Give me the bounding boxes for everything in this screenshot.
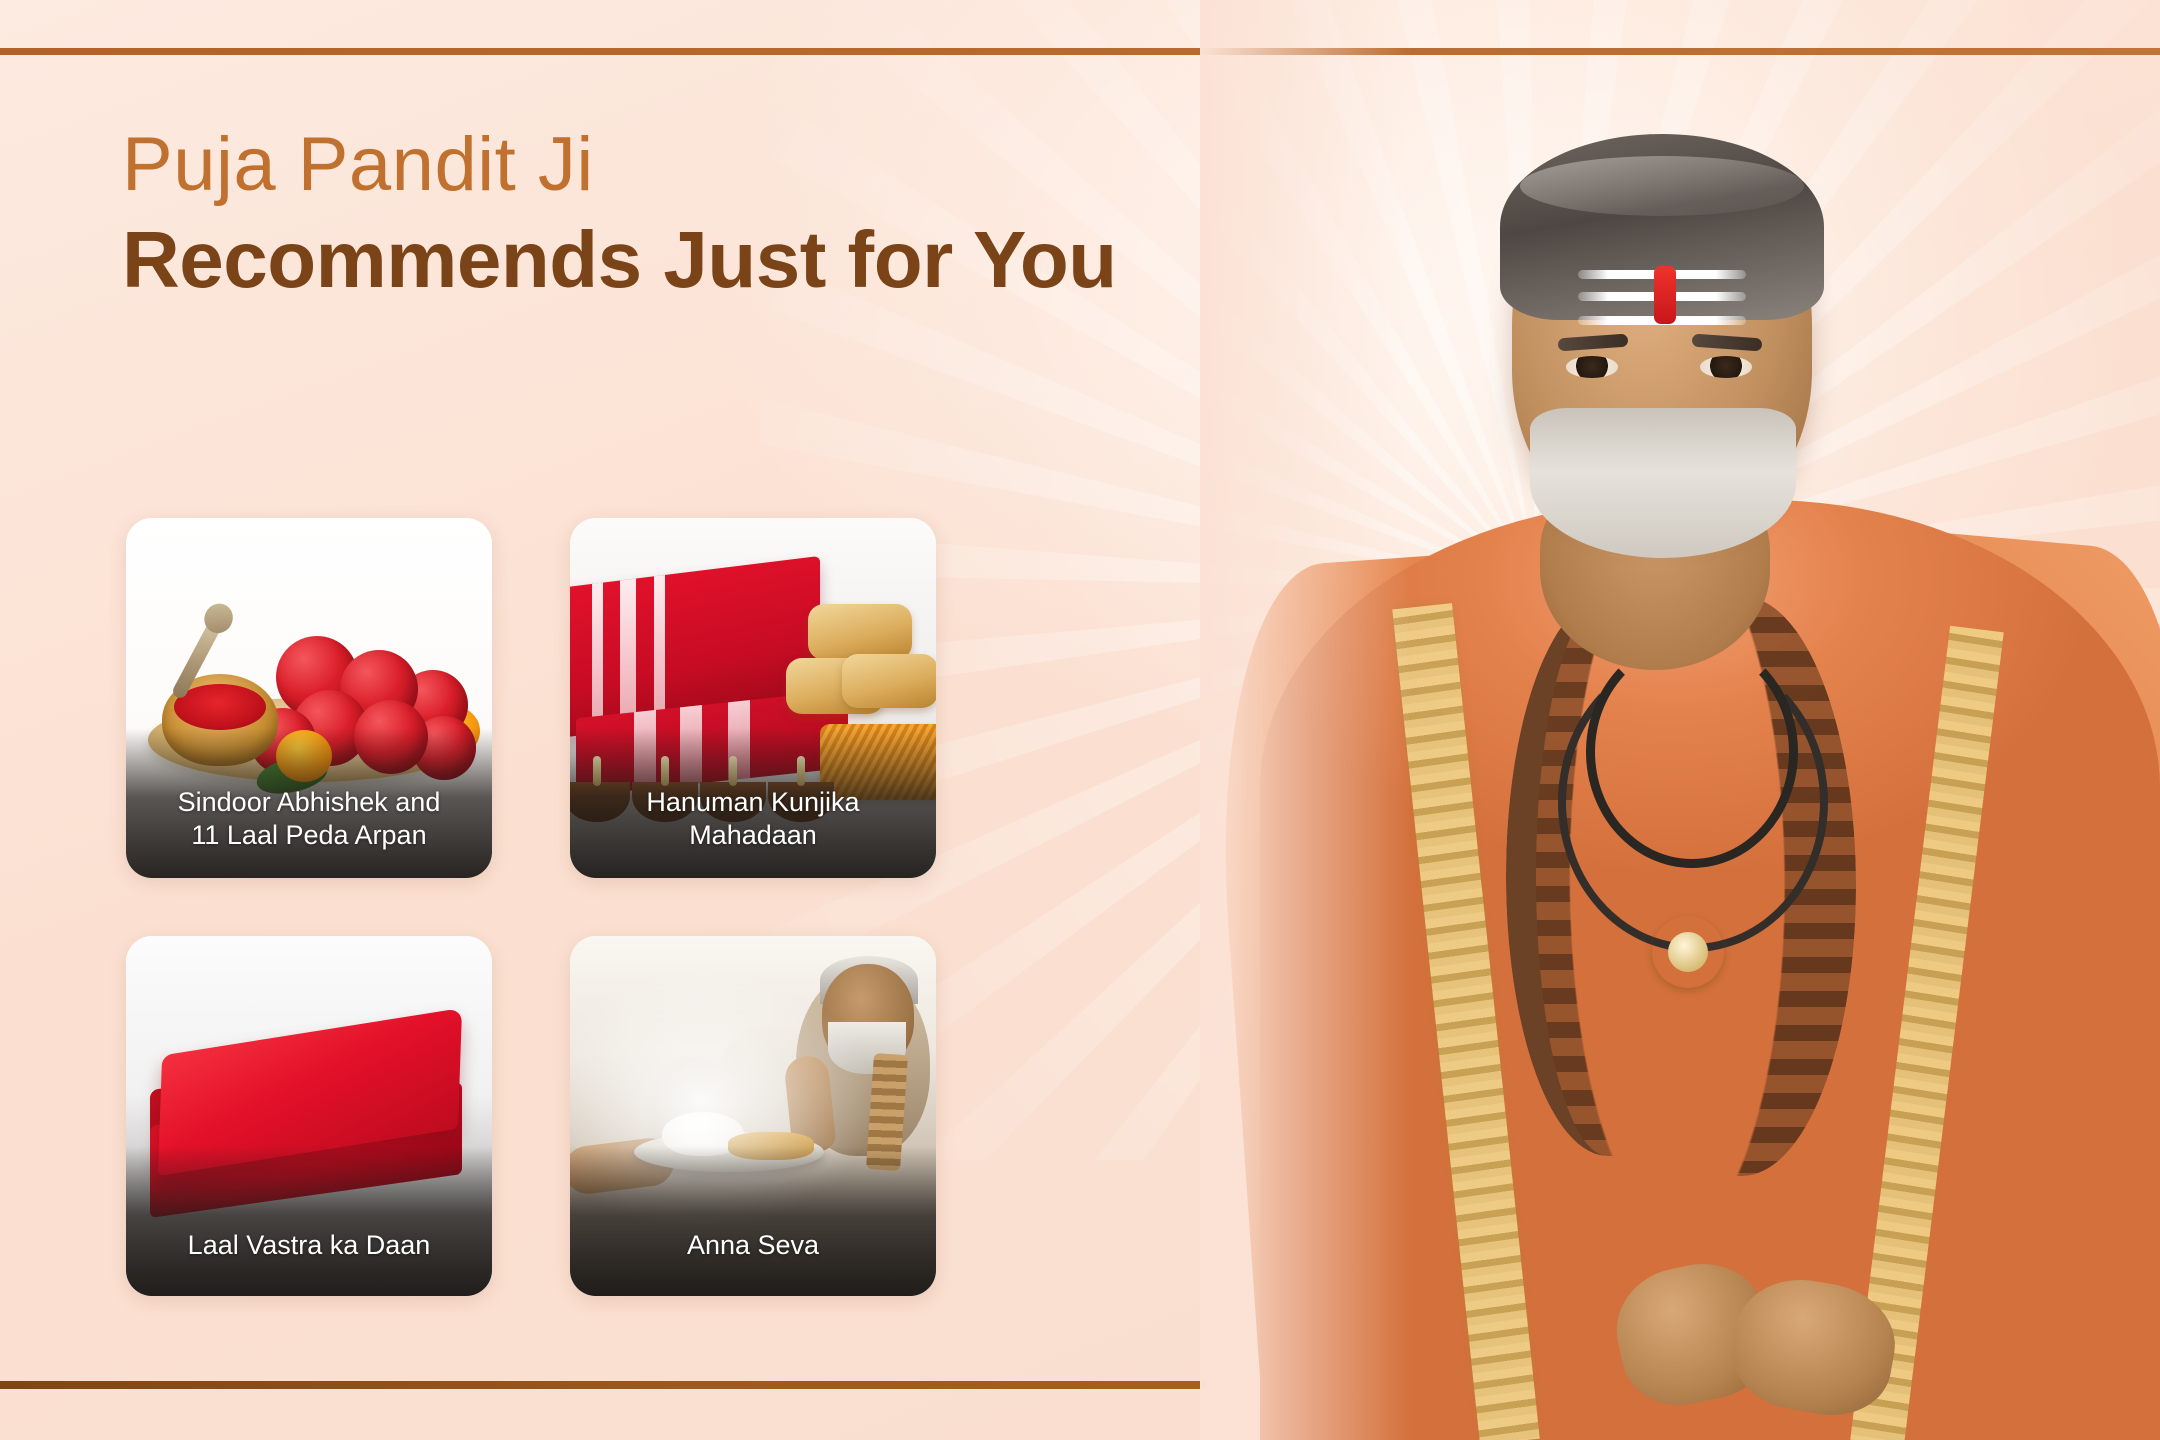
card-caption-anna-seva: Anna Seva (580, 1229, 926, 1262)
promo-banner: Puja Pandit Ji Recommends Just for You S… (0, 0, 2160, 1440)
card-sindoor-abhishek[interactable]: Sindoor Abhishek and 11 Laal Peda Arpan (126, 518, 492, 878)
pandit-portrait (1200, 0, 2160, 1440)
caption-line-2: Mahadaan (580, 819, 926, 852)
recommendation-grid: Sindoor Abhishek and 11 Laal Peda Arpan … (126, 518, 936, 1296)
card-caption-sindoor: Sindoor Abhishek and 11 Laal Peda Arpan (136, 786, 482, 852)
card-caption-kunjika: Hanuman Kunjika Mahadaan (580, 786, 926, 852)
card-laal-vastra-ka-daan[interactable]: Laal Vastra ka Daan (126, 936, 492, 1296)
bottom-divider (0, 1381, 1205, 1389)
card-scrim (126, 1146, 492, 1296)
caption-line-2: 11 Laal Peda Arpan (136, 819, 482, 852)
headline-line-1: Puja Pandit Ji (122, 122, 1182, 207)
caption-line-1: Laal Vastra ka Daan (136, 1229, 482, 1262)
caption-line-1: Anna Seva (580, 1229, 926, 1262)
caption-line-1: Hanuman Kunjika (580, 786, 926, 819)
headline-block: Puja Pandit Ji Recommends Just for You (122, 122, 1182, 305)
card-anna-seva[interactable]: Anna Seva (570, 936, 936, 1296)
card-scrim (570, 1146, 936, 1296)
caption-line-1: Sindoor Abhishek and (136, 786, 482, 819)
card-hanuman-kunjika-mahadaan[interactable]: Hanuman Kunjika Mahadaan (570, 518, 936, 878)
card-caption-laal-vastra: Laal Vastra ka Daan (136, 1229, 482, 1262)
page-title: Recommends Just for You (122, 215, 1182, 305)
